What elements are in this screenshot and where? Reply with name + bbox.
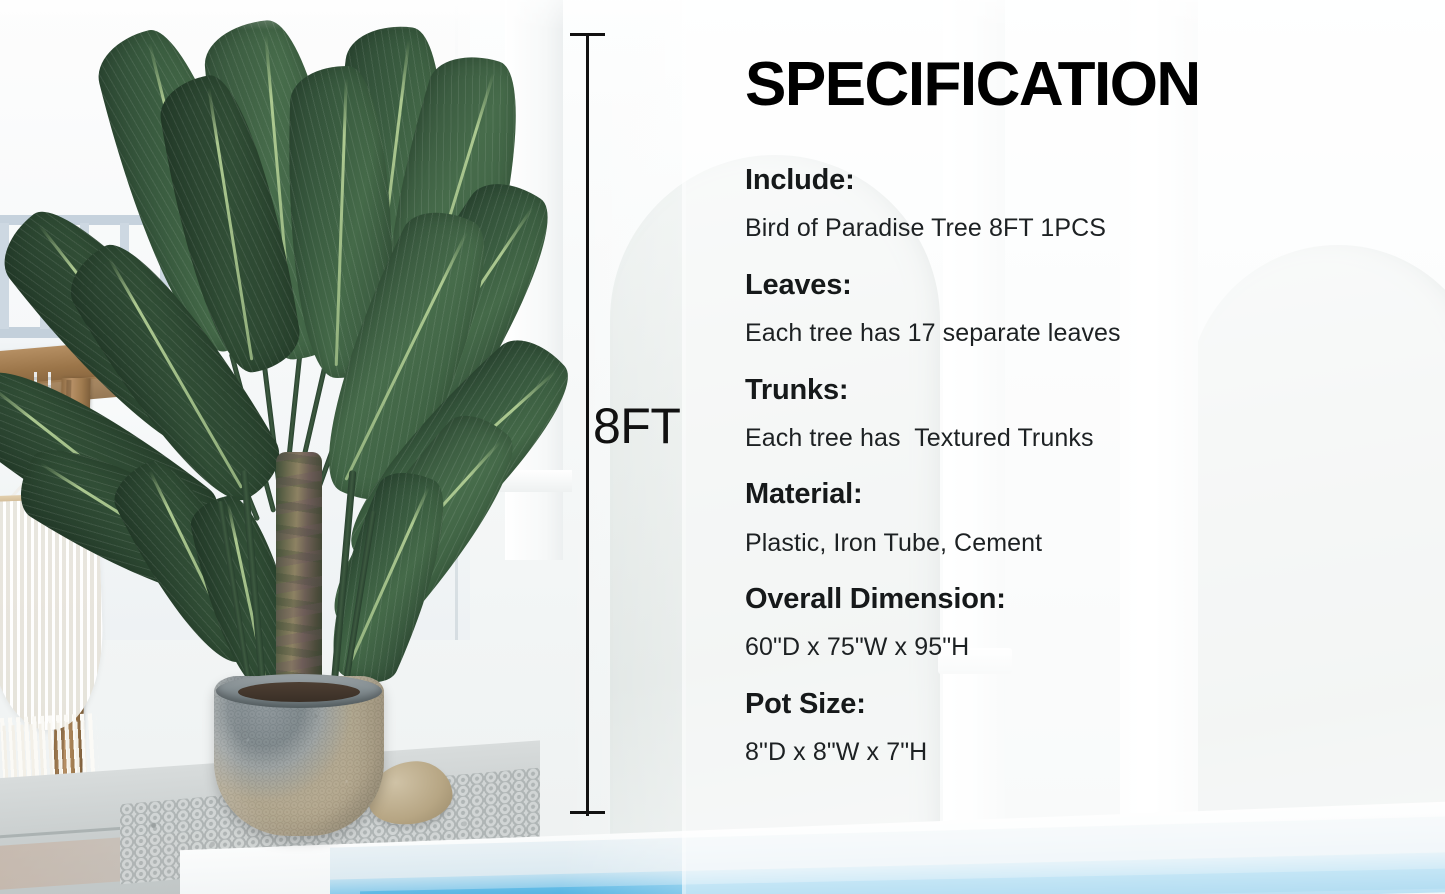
specification-title: SPECIFICATION bbox=[745, 54, 1385, 116]
spec-row-pot-size: Pot Size: 8"D x 8"W x 7"H bbox=[745, 686, 1385, 769]
pot-soil bbox=[238, 682, 360, 702]
spec-label-leaves: Leaves: bbox=[745, 267, 1385, 303]
trunk-sheath-texture bbox=[276, 452, 322, 702]
spec-image-canvas: 8FT SPECIFICATION Include: Bird of Parad… bbox=[0, 0, 1445, 894]
spec-row-overall-dimension: Overall Dimension: 60"D x 75"W x 95"H bbox=[745, 581, 1385, 664]
spec-row-include: Include: Bird of Paradise Tree 8FT 1PCS bbox=[745, 162, 1385, 245]
specification-panel: SPECIFICATION Include: Bird of Paradise … bbox=[745, 54, 1385, 791]
spec-row-trunks: Trunks: Each tree has Textured Trunks bbox=[745, 372, 1385, 455]
spec-label-trunks: Trunks: bbox=[745, 372, 1385, 408]
measurement-label: 8FT bbox=[593, 401, 680, 451]
spec-value-pot-size: 8"D x 8"W x 7"H bbox=[745, 736, 1385, 769]
spec-label-pot-size: Pot Size: bbox=[745, 686, 1385, 722]
spec-value-trunks: Each tree has Textured Trunks bbox=[745, 422, 1385, 455]
spec-value-material: Plastic, Iron Tube, Cement bbox=[745, 527, 1385, 560]
spec-value-include: Bird of Paradise Tree 8FT 1PCS bbox=[745, 212, 1385, 245]
measurement-vertical-line bbox=[586, 34, 589, 816]
measurement-cap-bottom bbox=[570, 811, 605, 814]
spec-label-include: Include: bbox=[745, 162, 1385, 198]
spec-value-overall-dimension: 60"D x 75"W x 95"H bbox=[745, 631, 1385, 664]
spec-row-material: Material: Plastic, Iron Tube, Cement bbox=[745, 476, 1385, 559]
spec-value-leaves: Each tree has 17 separate leaves bbox=[745, 317, 1385, 350]
spec-label-material: Material: bbox=[745, 476, 1385, 512]
spec-label-overall-dimension: Overall Dimension: bbox=[745, 581, 1385, 617]
spec-row-leaves: Leaves: Each tree has 17 separate leaves bbox=[745, 267, 1385, 350]
